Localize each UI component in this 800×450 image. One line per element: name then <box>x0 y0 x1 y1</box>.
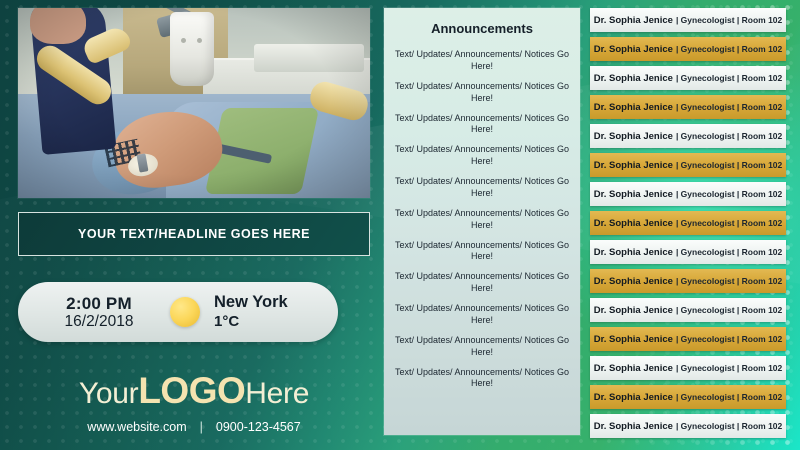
logo-block: YourLOGOHere www.website.com | 0900-123-… <box>18 372 370 434</box>
doctor-row[interactable]: Dr. Sophia Jenice| Gynecologist | Room 1… <box>590 298 786 322</box>
location-block: New York 1°C <box>214 293 288 330</box>
sun-icon <box>170 297 200 327</box>
doctor-row[interactable]: Dr. Sophia Jenice| Gynecologist | Room 1… <box>590 153 786 177</box>
doctor-name: Dr. Sophia Jenice <box>594 102 673 113</box>
doctor-specialty-room: | Gynecologist | Room 102 <box>676 363 782 373</box>
current-time: 2:00 PM <box>40 294 158 313</box>
doctor-name: Dr. Sophia Jenice <box>594 421 673 432</box>
announcement-item: Text/ Updates/ Announcements/ Notices Go… <box>393 271 571 295</box>
doctor-row[interactable]: Dr. Sophia Jenice| Gynecologist | Room 1… <box>590 269 786 293</box>
doctor-row[interactable]: Dr. Sophia Jenice| Gynecologist | Room 1… <box>590 240 786 264</box>
doctor-name: Dr. Sophia Jenice <box>594 305 673 316</box>
logo-prefix: Your <box>79 377 138 410</box>
logo-suffix: Here <box>245 377 309 410</box>
doctor-row[interactable]: Dr. Sophia Jenice| Gynecologist | Room 1… <box>590 8 786 32</box>
doctor-name: Dr. Sophia Jenice <box>594 392 673 403</box>
doctor-name: Dr. Sophia Jenice <box>594 44 673 55</box>
doctor-specialty-room: | Gynecologist | Room 102 <box>676 131 782 141</box>
announcement-item: Text/ Updates/ Announcements/ Notices Go… <box>393 113 571 137</box>
doctor-row[interactable]: Dr. Sophia Jenice| Gynecologist | Room 1… <box>590 95 786 119</box>
city-name: New York <box>214 293 288 312</box>
doctor-name: Dr. Sophia Jenice <box>594 218 673 229</box>
doctor-specialty-room: | Gynecologist | Room 102 <box>676 247 782 257</box>
doctor-specialty-room: | Gynecologist | Room 102 <box>676 15 782 25</box>
announcement-item: Text/ Updates/ Announcements/ Notices Go… <box>393 208 571 232</box>
doctor-row[interactable]: Dr. Sophia Jenice| Gynecologist | Room 1… <box>590 385 786 409</box>
doctor-name: Dr. Sophia Jenice <box>594 334 673 345</box>
clinical-photo <box>18 8 370 198</box>
logo-lockup: YourLOGOHere <box>18 372 370 409</box>
doctor-specialty-room: | Gynecologist | Room 102 <box>676 218 782 228</box>
photo-scene <box>18 8 370 198</box>
doctor-row[interactable]: Dr. Sophia Jenice| Gynecologist | Room 1… <box>590 182 786 206</box>
doctor-name: Dr. Sophia Jenice <box>594 189 673 200</box>
announcements-panel: Announcements Text/ Updates/ Announcemen… <box>384 8 580 435</box>
announcement-item: Text/ Updates/ Announcements/ Notices Go… <box>393 176 571 200</box>
doctor-name: Dr. Sophia Jenice <box>594 73 673 84</box>
announcement-item: Text/ Updates/ Announcements/ Notices Go… <box>393 367 571 391</box>
doctor-name: Dr. Sophia Jenice <box>594 363 673 374</box>
digital-signage-board: YOUR TEXT/HEADLINE GOES HERE 2:00 PM 16/… <box>0 0 800 450</box>
doctor-name: Dr. Sophia Jenice <box>594 131 673 142</box>
doctor-specialty-room: | Gynecologist | Room 102 <box>676 421 782 431</box>
doctor-row[interactable]: Dr. Sophia Jenice| Gynecologist | Room 1… <box>590 356 786 380</box>
announcements-list: Text/ Updates/ Announcements/ Notices Go… <box>393 49 571 390</box>
current-date: 16/2/2018 <box>40 313 158 330</box>
time-block: 2:00 PM 16/2/2018 <box>40 294 158 330</box>
doctor-name: Dr. Sophia Jenice <box>594 15 673 26</box>
headline-text: YOUR TEXT/HEADLINE GOES HERE <box>78 227 310 241</box>
doctor-specialty-room: | Gynecologist | Room 102 <box>676 392 782 402</box>
announcement-item: Text/ Updates/ Announcements/ Notices Go… <box>393 49 571 73</box>
doctor-specialty-room: | Gynecologist | Room 102 <box>676 305 782 315</box>
doctor-directory-list: Dr. Sophia Jenice| Gynecologist | Room 1… <box>590 8 786 443</box>
announcement-item: Text/ Updates/ Announcements/ Notices Go… <box>393 335 571 359</box>
announcement-item: Text/ Updates/ Announcements/ Notices Go… <box>393 303 571 327</box>
contact-separator: | <box>200 420 203 434</box>
announcement-item: Text/ Updates/ Announcements/ Notices Go… <box>393 144 571 168</box>
headline-banner: YOUR TEXT/HEADLINE GOES HERE <box>18 212 370 256</box>
doctor-name: Dr. Sophia Jenice <box>594 276 673 287</box>
doctor-row[interactable]: Dr. Sophia Jenice| Gynecologist | Room 1… <box>590 211 786 235</box>
announcements-title: Announcements <box>393 21 571 36</box>
time-weather-widget: 2:00 PM 16/2/2018 New York 1°C <box>18 282 338 342</box>
doctor-row[interactable]: Dr. Sophia Jenice| Gynecologist | Room 1… <box>590 124 786 148</box>
doctor-row[interactable]: Dr. Sophia Jenice| Gynecologist | Room 1… <box>590 37 786 61</box>
doctor-name: Dr. Sophia Jenice <box>594 247 673 258</box>
doctor-row[interactable]: Dr. Sophia Jenice| Gynecologist | Room 1… <box>590 327 786 351</box>
announcement-item: Text/ Updates/ Announcements/ Notices Go… <box>393 240 571 264</box>
doctor-specialty-room: | Gynecologist | Room 102 <box>676 44 782 54</box>
doctor-specialty-room: | Gynecologist | Room 102 <box>676 160 782 170</box>
doctor-specialty-room: | Gynecologist | Room 102 <box>676 73 782 83</box>
doctor-row[interactable]: Dr. Sophia Jenice| Gynecologist | Room 1… <box>590 66 786 90</box>
doctor-row[interactable]: Dr. Sophia Jenice| Gynecologist | Room 1… <box>590 414 786 438</box>
doctor-specialty-room: | Gynecologist | Room 102 <box>676 276 782 286</box>
phone-number[interactable]: 0900-123-4567 <box>216 420 301 434</box>
doctor-specialty-room: | Gynecologist | Room 102 <box>676 102 782 112</box>
doctor-specialty-room: | Gynecologist | Room 102 <box>676 334 782 344</box>
website-url[interactable]: www.website.com <box>87 420 186 434</box>
doctor-name: Dr. Sophia Jenice <box>594 160 673 171</box>
doctor-specialty-room: | Gynecologist | Room 102 <box>676 189 782 199</box>
contact-line: www.website.com | 0900-123-4567 <box>18 420 370 434</box>
temperature: 1°C <box>214 313 288 331</box>
photo-vignette <box>18 8 370 198</box>
logo-main: LOGO <box>138 370 245 411</box>
announcement-item: Text/ Updates/ Announcements/ Notices Go… <box>393 81 571 105</box>
left-column: YOUR TEXT/HEADLINE GOES HERE 2:00 PM 16/… <box>18 8 370 442</box>
